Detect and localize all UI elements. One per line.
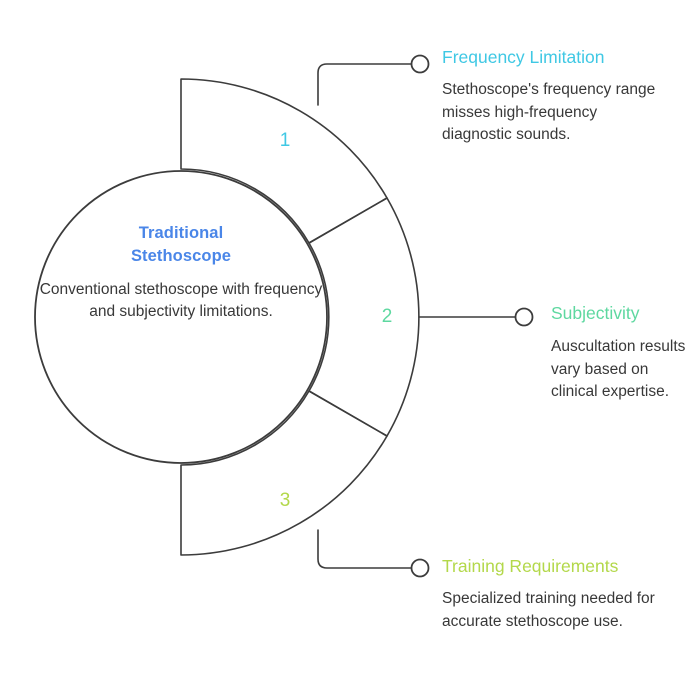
- item-description-2: Auscultation results vary based on clini…: [551, 336, 691, 404]
- item-title-1[interactable]: Frequency Limitation: [442, 47, 682, 68]
- node-circle-icon-3[interactable]: [412, 560, 429, 577]
- segment-number-2: 2: [372, 307, 402, 326]
- hub-circle[interactable]: [35, 171, 327, 463]
- item-description-3: Specialized training needed for accurate…: [442, 588, 682, 633]
- item-block-subjectivity: Subjectivity Auscultation results vary b…: [551, 303, 693, 404]
- item-title-2[interactable]: Subjectivity: [551, 303, 693, 324]
- item-title-3[interactable]: Training Requirements: [442, 556, 690, 577]
- item-block-training-requirements: Training Requirements Specialized traini…: [442, 556, 690, 633]
- node-circle-icon-1[interactable]: [412, 56, 429, 73]
- item-description-1: Stethoscope's frequency range misses hig…: [442, 79, 667, 147]
- connector-line-1: [318, 64, 411, 105]
- connector-line-3: [318, 530, 411, 568]
- segment-number-3: 3: [270, 491, 300, 510]
- diagram-canvas: Traditional Stethoscope Conventional ste…: [0, 0, 693, 681]
- segment-number-1: 1: [270, 131, 300, 150]
- node-circle-icon-2[interactable]: [516, 309, 533, 326]
- item-block-frequency-limitation: Frequency Limitation Stethoscope's frequ…: [442, 47, 682, 147]
